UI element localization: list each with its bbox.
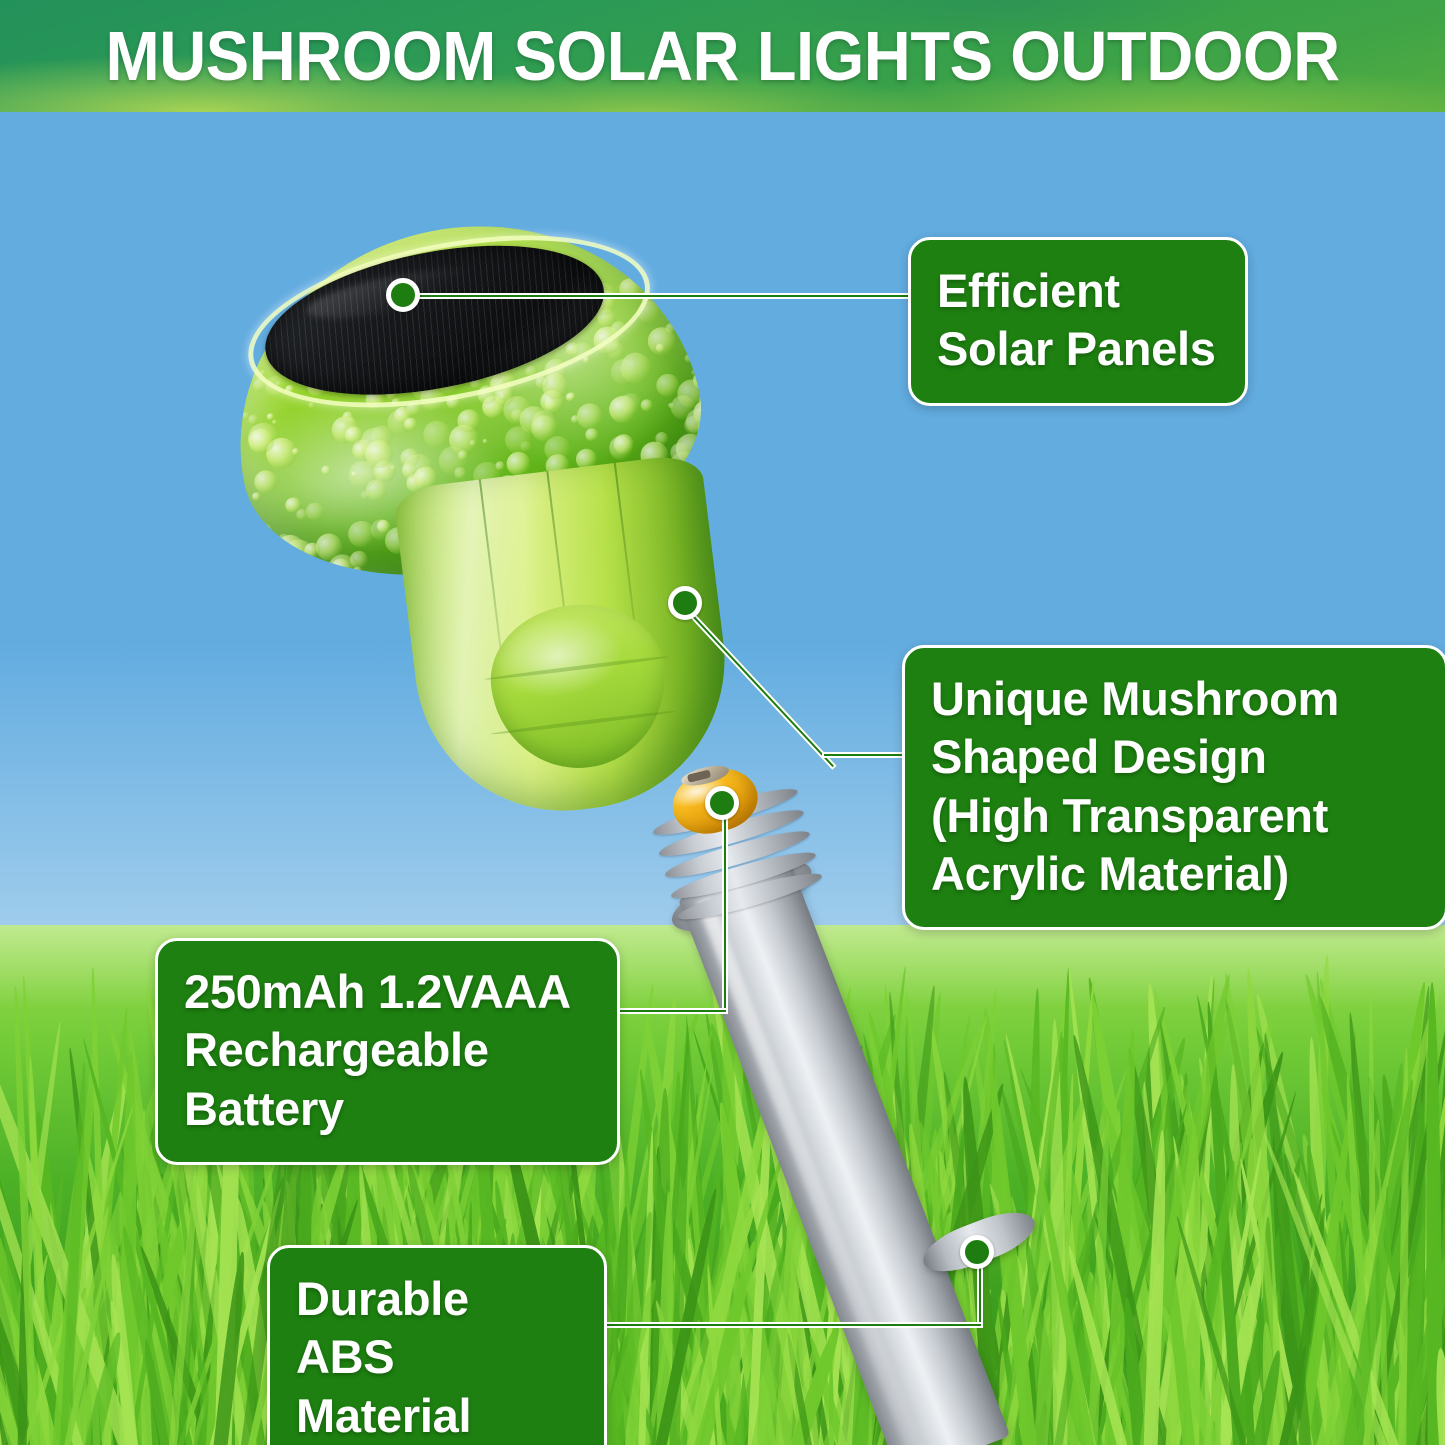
- connector-line-abs-horizontal: [600, 1322, 983, 1328]
- acrylic-bubble: [308, 402, 314, 408]
- acrylic-bubble: [665, 322, 676, 333]
- acrylic-bubble: [403, 416, 418, 431]
- acrylic-bubble: [258, 523, 272, 537]
- marker-dot-solar-panel: [386, 278, 420, 312]
- acrylic-bubble: [304, 501, 326, 523]
- acrylic-bubble: [495, 461, 505, 471]
- marker-dot-abs-material: [960, 1235, 994, 1269]
- acrylic-bubble: [482, 438, 488, 444]
- acrylic-bubble: [390, 464, 397, 471]
- acrylic-bubble: [712, 464, 724, 482]
- acrylic-bubble: [691, 369, 698, 376]
- acrylic-bubble: [684, 353, 694, 363]
- marker-dot-acrylic-body: [668, 586, 702, 620]
- header-banner: MUSHROOM SOLAR LIGHTS OUTDOOR: [0, 0, 1445, 112]
- acrylic-bubble: [321, 465, 332, 476]
- page-title: MUSHROOM SOLAR LIGHTS OUTDOOR: [105, 16, 1339, 96]
- acrylic-bubble: [584, 427, 599, 442]
- connector-line-abs-vertical: [977, 1262, 983, 1328]
- callout-durable-abs-material[interactable]: Durable ABS Material: [267, 1245, 607, 1445]
- callout-unique-mushroom-shaped-design[interactable]: Unique Mushroom Shaped Design (High Tran…: [902, 645, 1445, 930]
- connector-line-battery-vertical: [722, 812, 728, 1014]
- acrylic-bubble: [670, 306, 687, 323]
- acrylic-bubble: [640, 398, 654, 412]
- callout-rechargeable-battery[interactable]: 250mAh 1.2VAAA Rechargeable Battery: [155, 938, 620, 1165]
- acrylic-mushroom-stem: [392, 452, 741, 827]
- product-infographic: Efficient Solar Panels Unique Mushroom S…: [0, 0, 1445, 1445]
- acrylic-bubble: [421, 419, 452, 450]
- acrylic-bubble: [251, 491, 261, 501]
- acrylic-bubble: [469, 440, 476, 447]
- connector-line-battery-horizontal: [610, 1008, 728, 1014]
- marker-dot-battery: [705, 786, 739, 820]
- callout-efficient-solar-panels[interactable]: Efficient Solar Panels: [908, 237, 1248, 406]
- connector-line-solar-panel: [406, 293, 916, 299]
- acrylic-bubble: [574, 401, 605, 432]
